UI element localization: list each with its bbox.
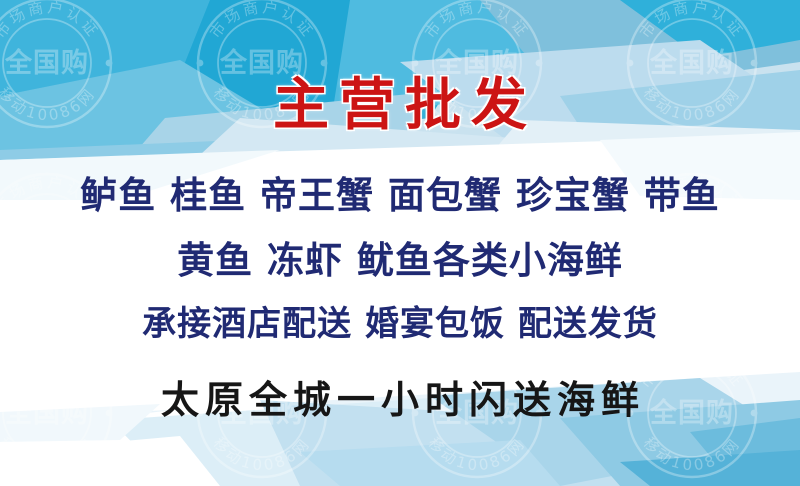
delivery-slogan-line: 太原全城一小时闪送海鲜 — [0, 381, 800, 419]
service-offerings-line: 承接酒店配送 婚宴包饭 配送发货 — [0, 307, 800, 341]
page-title: 主营批发 — [0, 78, 800, 134]
poster-content: 主营批发 鲈鱼 桂鱼 帝王蟹 面包蟹 珍宝蟹 带鱼 黄鱼 冻虾 鱿鱼各类小海鲜 … — [0, 0, 800, 486]
product-list-line-1: 鲈鱼 桂鱼 帝王蟹 面包蟹 珍宝蟹 带鱼 — [0, 177, 800, 214]
product-list-line-2: 黄鱼 冻虾 鱿鱼各类小海鲜 — [0, 242, 800, 279]
poster-canvas: 市场商户认证 移动10086网 全国购 主营批发 鲈鱼 桂鱼 帝王蟹 面包蟹 — [0, 0, 800, 486]
